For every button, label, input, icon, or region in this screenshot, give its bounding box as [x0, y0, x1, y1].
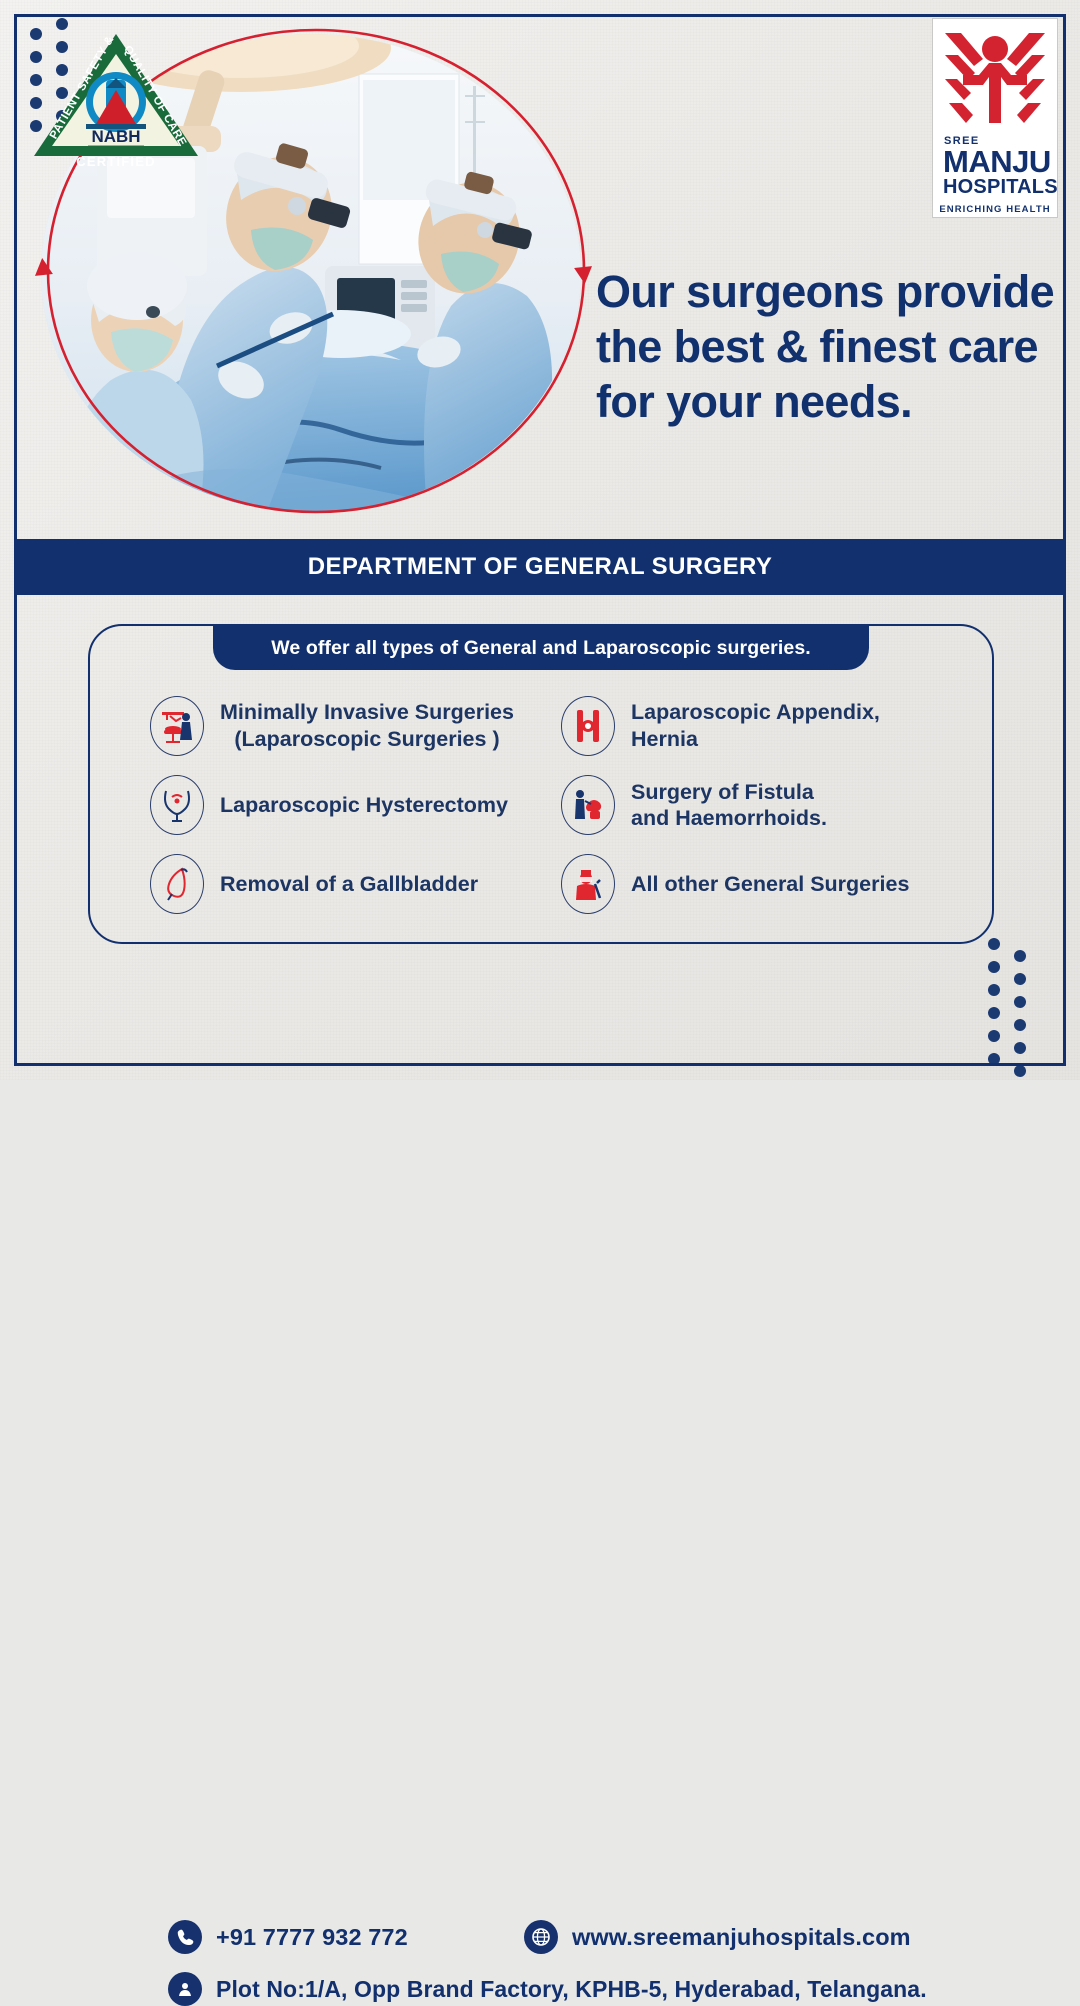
contact-website[interactable]: www.sreemanjuhospitals.com: [524, 1920, 911, 1954]
hero-section: NABH CERTIFIED PATIENT SAFETY & QUALITY …: [0, 0, 1080, 535]
headline-line-3: for your needs.: [596, 375, 1056, 430]
service-item-minimally-invasive[interactable]: Minimally Invasive Surgeries (Laparoscop…: [150, 686, 547, 765]
headline-line-2: the best & finest care: [596, 320, 1056, 375]
location-pin-icon: [168, 1972, 202, 2006]
service-label-line1: All other General Surgeries: [631, 871, 909, 897]
globe-icon: [524, 1920, 558, 1954]
address-text: Plot No:1/A, Opp Brand Factory, KPHB-5, …: [216, 1976, 927, 2003]
uterus-icon: [150, 775, 204, 835]
logo-tagline-text: ENRICHING HEALTH: [939, 204, 1050, 215]
fistula-surgery-icon: [561, 775, 615, 835]
phone-text: +91 7777 932 772: [216, 1924, 408, 1951]
services-card: Minimally Invasive Surgeries (Laparoscop…: [88, 624, 994, 944]
gallbladder-icon: [150, 854, 204, 914]
service-item-fistula-haemorrhoids[interactable]: Surgery of Fistula and Haemorrhoids.: [561, 765, 958, 844]
service-item-appendix-hernia[interactable]: Laparoscopic Appendix, Hernia: [561, 686, 958, 765]
department-banner: DEPARTMENT OF GENERAL SURGERY: [17, 539, 1063, 595]
service-label-line2: and Haemorrhoids.: [631, 805, 827, 831]
hero-headline: Our surgeons provide the best & finest c…: [596, 265, 1056, 430]
service-label: Removal of a Gallbladder: [220, 871, 478, 897]
service-label-line1: Minimally Invasive Surgeries: [220, 699, 514, 725]
service-label-line1: Laparoscopic Hysterectomy: [220, 792, 508, 818]
service-label: Laparoscopic Hysterectomy: [220, 792, 508, 818]
service-label-line1: Removal of a Gallbladder: [220, 871, 478, 897]
service-label-line2: (Laparoscopic Surgeries ): [220, 726, 514, 752]
contact-address[interactable]: Plot No:1/A, Opp Brand Factory, KPHB-5, …: [168, 1972, 927, 2006]
hospital-logo: SREE MANJU HOSPITALS ENRICHING HEALTH: [932, 18, 1058, 218]
service-label: Surgery of Fistula and Haemorrhoids.: [631, 779, 827, 831]
service-label-line1: Laparoscopic Appendix,: [631, 699, 880, 725]
services-grid: Minimally Invasive Surgeries (Laparoscop…: [150, 686, 958, 924]
service-label: Laparoscopic Appendix, Hernia: [631, 699, 880, 751]
dot-grid-bottom-right: [988, 938, 1048, 1058]
logo-manju-text: MANJU: [943, 147, 1051, 177]
contact-phone[interactable]: +91 7777 932 772: [168, 1920, 408, 1954]
service-item-hysterectomy[interactable]: Laparoscopic Hysterectomy: [150, 765, 547, 844]
logo-hospitals-text: HOSPITALS: [943, 177, 1058, 198]
contact-footer: +91 7777 932 772 www.sreemanjuhospitals.…: [0, 950, 1080, 1080]
headline-line-1: Our surgeons provide: [596, 265, 1056, 320]
hernia-icon: [561, 696, 615, 756]
service-label-line2: Hernia: [631, 726, 880, 752]
nabh-body-text: NABH: [91, 127, 140, 146]
phone-icon: [168, 1920, 202, 1954]
website-text: www.sreemanjuhospitals.com: [572, 1924, 911, 1951]
nabh-status-text: CERTIFIED: [76, 154, 155, 169]
service-label-line1: Surgery of Fistula: [631, 779, 827, 805]
starburst-logo-icon: [943, 29, 1047, 133]
nabh-certification-badge: NABH CERTIFIED PATIENT SAFETY & QUALITY …: [28, 28, 203, 170]
service-label: Minimally Invasive Surgeries (Laparoscop…: [220, 699, 514, 751]
service-item-all-other-surgeries[interactable]: All other General Surgeries: [561, 845, 958, 924]
services-subtitle-pill: We offer all types of General and Laparo…: [213, 626, 869, 670]
service-label: All other General Surgeries: [631, 871, 909, 897]
surgery-table-icon: [150, 696, 204, 756]
poster: NABH CERTIFIED PATIENT SAFETY & QUALITY …: [0, 0, 1080, 1080]
surgeon-icon: [561, 854, 615, 914]
service-item-gallbladder[interactable]: Removal of a Gallbladder: [150, 845, 547, 924]
